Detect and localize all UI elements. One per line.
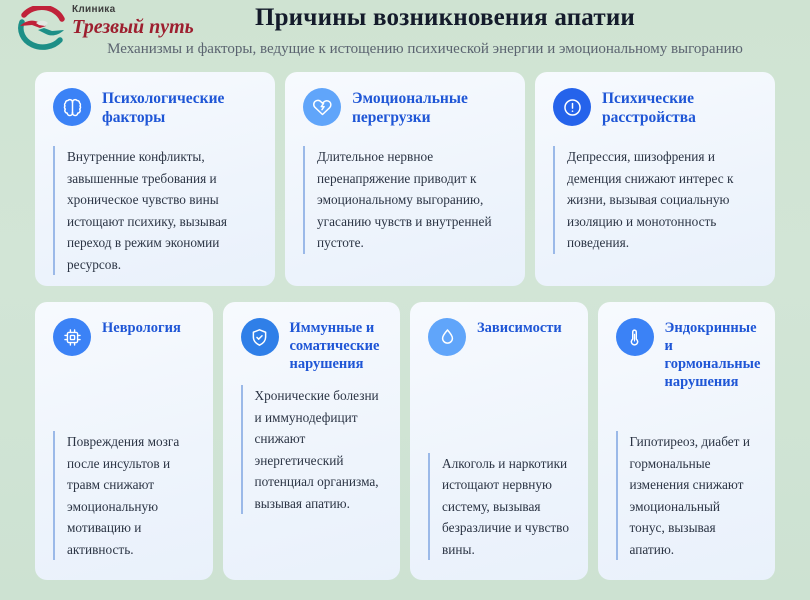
shield-check-icon	[241, 318, 279, 356]
page-subtitle: Механизмы и факторы, ведущие к истощению…	[0, 41, 810, 58]
card-emotional-overload[interactable]: Эмоциональные перегрузки Длительное нерв…	[285, 72, 525, 286]
card-neurology[interactable]: Неврология Повреждения мозга после инсул…	[35, 302, 213, 580]
alert-circle-icon	[553, 88, 591, 126]
thermometer-icon	[616, 318, 654, 356]
bottom-row: Неврология Повреждения мозга после инсул…	[0, 302, 810, 580]
card-text: Длительное нервное перенапряжение привод…	[303, 146, 507, 254]
card-header: Психологические факторы	[53, 88, 257, 130]
card-title: Зависимости	[477, 318, 562, 337]
card-title: Психические расстройства	[602, 88, 757, 127]
broken-heart-icon	[303, 88, 341, 126]
card-immune-somatic[interactable]: Иммунные и соматические нарушения Хронич…	[223, 302, 401, 580]
card-mental-disorders[interactable]: Психические расстройства Депрессия, шизо…	[535, 72, 775, 286]
card-spacer	[616, 391, 758, 431]
card-title: Неврология	[102, 318, 181, 337]
card-text: Повреждения мозга после инсультов и трав…	[53, 431, 195, 560]
card-header: Иммунные и соматические нарушения	[241, 318, 383, 373]
infographic-page: Клиника Трезвый путь Причины возникновен…	[0, 0, 810, 600]
page-title: Причины возникновения апатии	[0, 4, 810, 32]
card-text: Алкоголь и наркотики истощают нервную си…	[428, 453, 570, 561]
card-spacer	[428, 360, 570, 453]
brain-icon	[53, 88, 91, 126]
card-addictions[interactable]: Зависимости Алкоголь и наркотики истощаю…	[410, 302, 588, 580]
top-row: Психологические факторы Внутренние конфл…	[0, 72, 810, 286]
card-text: Депрессия, шизофрения и деменция снижают…	[553, 146, 757, 254]
cpu-chip-icon	[53, 318, 91, 356]
card-title: Эмоциональные перегрузки	[352, 88, 507, 127]
card-title: Эндокринные и гормональные нарушения	[665, 318, 761, 391]
card-header: Зависимости	[428, 318, 570, 360]
card-text: Внутренние конфликты, завышенные требова…	[53, 146, 257, 275]
page-header: Клиника Трезвый путь Причины возникновен…	[0, 0, 810, 72]
card-spacer	[53, 360, 195, 431]
card-header: Психические расстройства	[553, 88, 757, 130]
card-text: Хронические болезни и иммунодефицит сниж…	[241, 385, 383, 514]
card-title: Психологические факторы	[102, 88, 257, 127]
card-header: Эмоциональные перегрузки	[303, 88, 507, 130]
card-endocrine-hormonal[interactable]: Эндокринные и гормональные нарушения Гип…	[598, 302, 776, 580]
card-header: Эндокринные и гормональные нарушения	[616, 318, 758, 391]
card-header: Неврология	[53, 318, 195, 360]
card-psychological-factors[interactable]: Психологические факторы Внутренние конфл…	[35, 72, 275, 286]
card-text: Гипотиреоз, диабет и гормональные измене…	[616, 431, 758, 560]
droplet-icon	[428, 318, 466, 356]
card-title: Иммунные и соматические нарушения	[290, 318, 383, 373]
